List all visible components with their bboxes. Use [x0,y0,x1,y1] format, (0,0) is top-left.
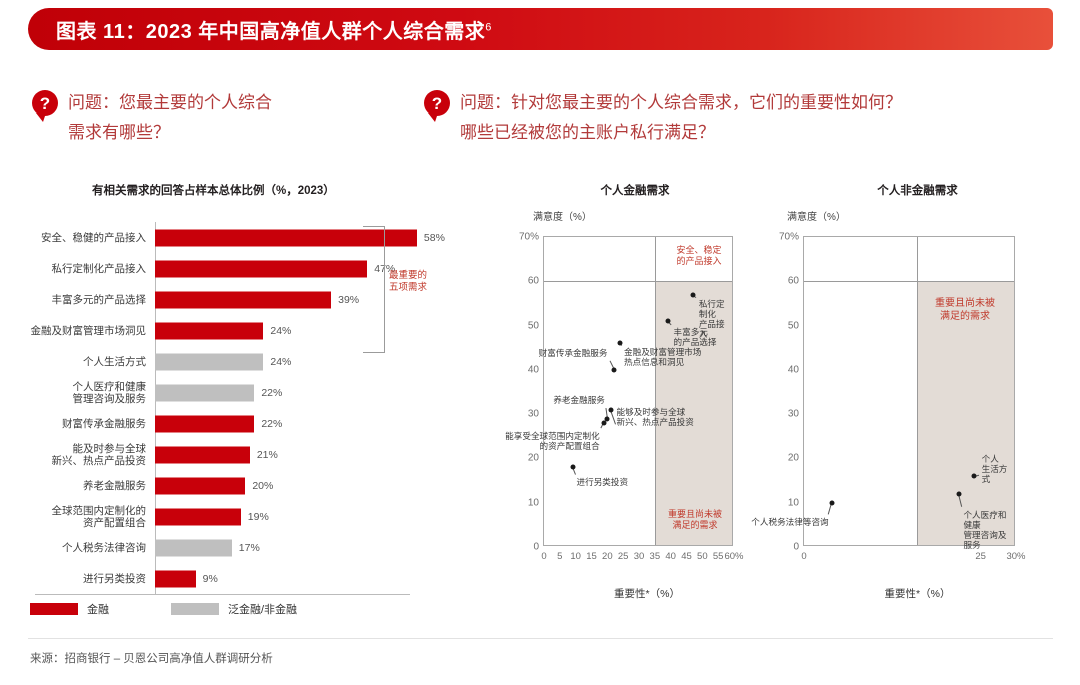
scatter-plot-area-financial: 010203040506070%051015202530354045505560… [543,236,733,546]
scatter-point-label: 能够及时参与全球新兴、热点产品投资 [617,407,694,427]
bar-row-track: 17% [155,532,435,563]
x-axis-tick: 5 [557,551,562,562]
scatter-point [690,292,695,297]
y-axis-tick: 60 [528,276,539,287]
y-axis-tick: 0 [533,542,539,553]
scatter-point [830,500,835,505]
x-axis-tick: 40 [665,551,676,562]
y-axis-tick: 60 [788,276,799,287]
y-axis-tick: 50 [788,320,799,331]
bar-row: 全球范围内定制化的资产配置组合19% [30,501,450,532]
bar-row-track: 22% [155,408,435,439]
scatter-point-label: 个人生活方式 [982,454,1014,484]
y-axis-tick: 70% [779,232,799,243]
scatter-point [608,407,613,412]
bar-row-fill [155,322,263,339]
bar-row-label: 进行另类投资 [30,573,155,585]
bar-row-fill [155,260,367,277]
question-line-1: 问题：针对您最主要的个人综合需求，它们的重要性如何？ [460,88,902,118]
bar-row-track: 19% [155,501,435,532]
y-axis-tick: 20 [528,453,539,464]
scatter-panel-nonfinancial: 个人非金融需求 满意度（%） 010203040506070%02530%个人生… [775,182,1060,612]
x-axis-tick: 0 [541,551,546,562]
legend-swatch [30,603,78,615]
bar-chart-title: 有相关需求的回答占样本总体比例（%，2023） [92,182,335,198]
bar-row-fill [155,539,232,556]
bar-chart-legend: 金融泛金融/非金融 [30,601,359,617]
legend-swatch [171,603,219,615]
bar-row-value: 9% [203,573,218,585]
x-axis-tick: 35 [650,551,661,562]
x-axis-tick: 50 [697,551,708,562]
x-axis-tick: 30% [1006,551,1025,562]
question-block-1: ? 问题：您最主要的个人综合 需求有哪些？ [32,88,412,148]
bar-row-fill [155,446,250,463]
bar-row-label: 私行定制化产品接入 [30,263,155,275]
legend-label: 金融 [87,601,109,617]
bar-row-fill [155,477,245,494]
scatter-panel-financial: 个人金融需求 满意度（%） 010203040506070%0510152025… [495,182,775,612]
footer-divider [28,638,1053,639]
question-mark-glyph: ? [32,90,58,116]
bar-row-value: 17% [239,542,260,554]
bracket-label: 最重要的五项需求 [389,270,437,294]
scatter-point-label: 进行另类投资 [577,477,629,487]
legend-label: 泛金融/非金融 [228,601,297,617]
scatter-point [611,367,616,372]
quadrant-vertical-divider [917,237,918,545]
bar-row-value: 24% [270,325,291,337]
y-axis-tick: 20 [788,453,799,464]
bar-row-fill [155,353,263,370]
scatter-point [957,491,962,496]
scatter-point-label: 个人医疗和健康管理咨询及服务 [963,510,1014,550]
unmet-need-note: 重要且尚未被满足的需求 [656,509,734,531]
bar-row-track: 22% [155,377,435,408]
bar-row: 个人医疗和健康管理咨询及服务22% [30,377,450,408]
title-footnote-marker: 6 [485,21,492,33]
source-note: 来源：招商银行 – 贝恩公司高净值人群调研分析 [30,650,273,666]
scatter-point-label: 个人税务法律等咨询 [751,517,828,527]
bar-row: 进行另类投资9% [30,563,450,594]
scatter-plot-area-nonfinancial: 010203040506070%02530%个人生活方式个人医疗和健康管理咨询及… [803,236,1015,546]
bar-row-fill [155,291,331,308]
x-axis-tick: 45 [681,551,692,562]
question-mark-icon: ? [424,90,450,116]
y-axis-tick: 40 [788,364,799,375]
bar-row: 财富传承金融服务22% [30,408,450,439]
question-line-1: 问题：您最主要的个人综合 [68,88,272,118]
scatter-point [570,465,575,470]
x-axis-tick: 20 [602,551,613,562]
bar-row-value: 20% [252,480,273,492]
bar-row-value: 24% [270,356,291,368]
scatter-xlabel-financial: 重要性*（%） [507,586,787,601]
bar-row-label: 能及时参与全球新兴、热点产品投资 [30,443,155,467]
y-axis-tick: 10 [528,497,539,508]
legend-item: 金融 [30,601,109,617]
scatter-point-label: 财富传承金融服务 [539,348,608,358]
quadrant-vertical-divider [655,237,656,545]
bar-row-label: 金融及财富管理市场洞见 [30,325,155,337]
x-axis-tick: 0 [801,551,806,562]
page-title: 图表 11：2023 年中国高净值人群个人综合需求6 [28,15,492,44]
top-five-bracket: 最重要的五项需求 [363,226,433,353]
bar-row-value: 39% [338,294,359,306]
scatter-point [971,474,976,479]
title-banner: 图表 11：2023 年中国高净值人群个人综合需求6 [28,8,1053,50]
bar-row-value: 19% [248,511,269,523]
question-mark-icon: ? [32,90,58,116]
scatter-point [665,319,670,324]
scatter-title-financial: 个人金融需求 [495,182,775,198]
question-block-2: ? 问题：针对您最主要的个人综合需求，它们的重要性如何？ 哪些已经被您的主账户私… [424,88,1054,148]
question-line-2: 哪些已经被您的主账户私行满足？ [460,118,902,148]
question-mark-glyph: ? [424,90,450,116]
bar-row: 养老金融服务20% [30,470,450,501]
quadrant-horizontal-divider [544,281,732,282]
x-axis-tick: 25 [975,551,986,562]
bar-row-label: 个人生活方式 [30,356,155,368]
x-axis-tick: 10 [570,551,581,562]
bar-row-track: 20% [155,470,435,501]
bar-row-fill [155,384,254,401]
scatter-ylabel-financial: 满意度（%） [533,208,592,223]
x-axis-tick: 55 [713,551,724,562]
scatter-title-nonfinancial: 个人非金融需求 [775,182,1060,198]
x-axis-tick: 25 [618,551,629,562]
y-axis-tick: 0 [793,542,799,553]
bar-row-label: 丰富多元的产品选择 [30,294,155,306]
safe-stable-product-note: 安全、稳定的产品接入 [666,245,732,267]
y-axis-tick: 70% [519,232,539,243]
unmet-need-note: 重要且尚未被满足的需求 [922,297,1008,323]
legend-item: 泛金融/非金融 [171,601,297,617]
bar-row-label: 个人税务法律咨询 [30,542,155,554]
scatter-xlabel-nonfinancial: 重要性*（%） [775,586,1060,601]
y-axis-tick: 10 [788,497,799,508]
scatter-point-label: 金融及财富管理市场热点信息和洞见 [624,347,701,367]
bracket-vertical-line [384,226,385,353]
page-title-text: 图表 11：2023 年中国高净值人群个人综合需求 [56,21,485,43]
bar-row-track: 21% [155,439,435,470]
figure-root: 图表 11：2023 年中国高净值人群个人综合需求6 ? 问题：您最主要的个人综… [0,0,1080,685]
quadrant-horizontal-divider [804,281,1014,282]
bar-row-fill [155,508,241,525]
bracket-bottom-line [363,352,385,353]
bar-row-fill [155,415,254,432]
bar-row-track: 9% [155,563,435,594]
bar-row-label: 财富传承金融服务 [30,418,155,430]
bar-row-label: 个人医疗和健康管理咨询及服务 [30,381,155,405]
bar-chart-baseline [35,594,410,595]
question-text-2: 问题：针对您最主要的个人综合需求，它们的重要性如何？ 哪些已经被您的主账户私行满… [460,88,902,148]
y-axis-tick: 40 [528,364,539,375]
question-line-2: 需求有哪些？ [68,118,272,148]
scatter-point [618,341,623,346]
scatter-point-label: 养老金融服务 [553,395,605,405]
scatter-point-label: 丰富多元的产品选择 [674,327,717,347]
y-axis-tick: 30 [788,409,799,420]
bar-row-value: 22% [261,418,282,430]
bar-row: 个人税务法律咨询17% [30,532,450,563]
bar-row: 能及时参与全球新兴、热点产品投资21% [30,439,450,470]
bracket-top-line [363,226,385,227]
scatter-ylabel-nonfinancial: 满意度（%） [787,208,846,223]
x-axis-tick: 30 [634,551,645,562]
bar-chart-panel: 有相关需求的回答占样本总体比例（%，2023） 安全、稳健的产品接入58%私行定… [30,182,450,642]
bar-row-label: 养老金融服务 [30,480,155,492]
scatter-point [602,421,607,426]
x-axis-tick: 15 [586,551,597,562]
x-axis-tick: 60% [724,551,743,562]
y-axis-tick: 50 [528,320,539,331]
y-axis-tick: 30 [528,409,539,420]
scatter-point-label: 能享受全球范围内定制化的资产配置组合 [505,431,600,451]
question-text-1: 问题：您最主要的个人综合 需求有哪些？ [68,88,272,148]
bar-row-value: 22% [261,387,282,399]
bar-row-label: 安全、稳健的产品接入 [30,232,155,244]
bar-row-value: 21% [257,449,278,461]
bar-row-fill [155,570,196,587]
bar-row-label: 全球范围内定制化的资产配置组合 [30,505,155,529]
